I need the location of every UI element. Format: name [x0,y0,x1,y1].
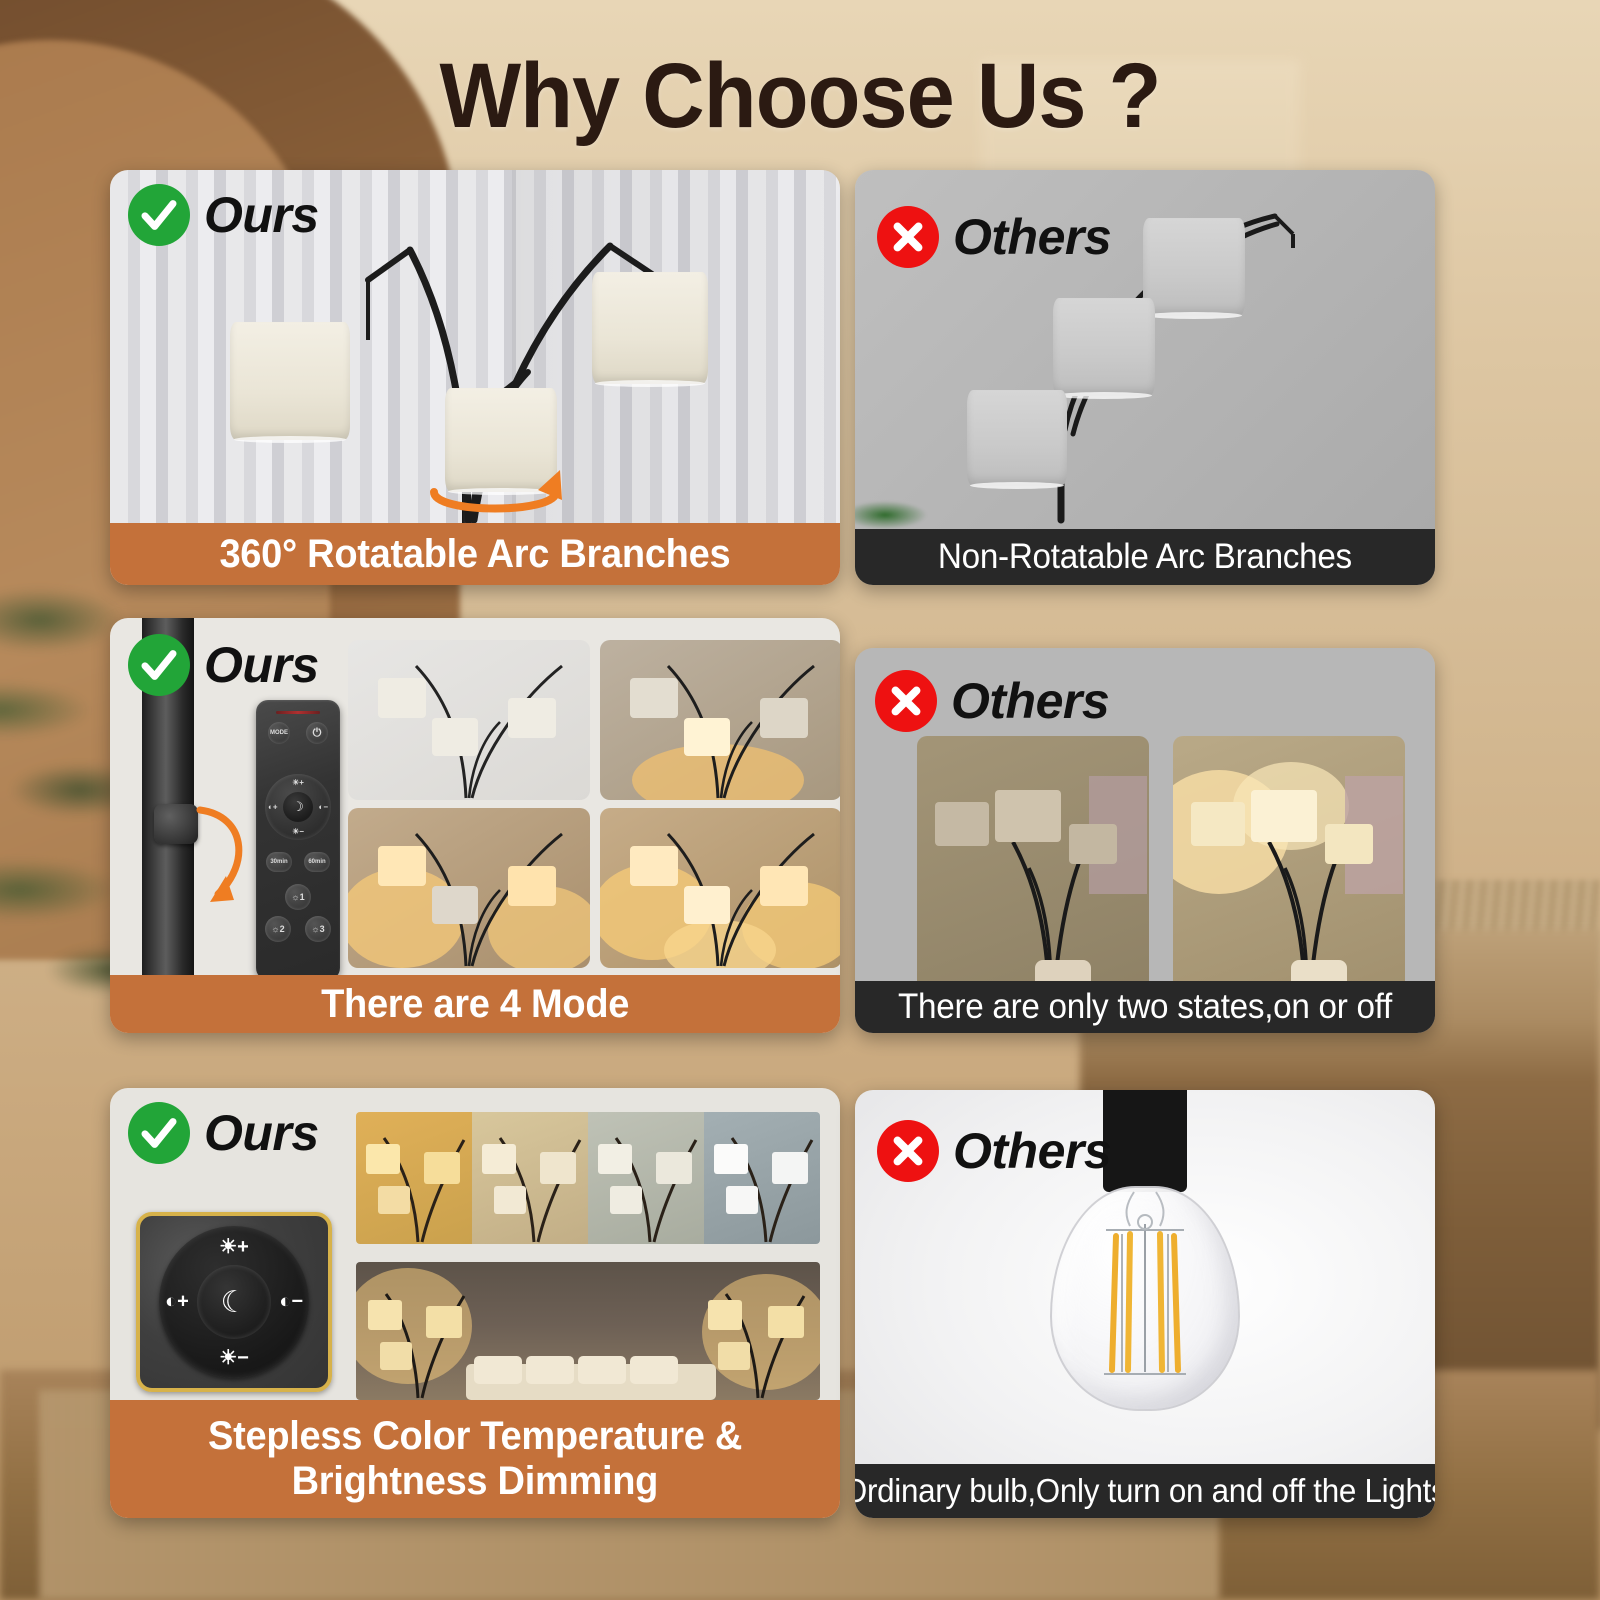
badge-label: Ours [204,1104,319,1162]
lamp-remote-control[interactable]: MODE ⏻ ☀+ ☀− ◐+ ◐− ☽ 30min 60min ☼1 ☼2 ☼… [256,700,340,980]
remote-light-2[interactable]: ☼2 [265,916,291,942]
badge-label: Others [951,672,1109,730]
thumb-mode-3 [348,808,590,968]
color-temp-down-key[interactable]: ◐− [279,1291,303,1314]
caption-bar-ours-dimming: Stepless Color Temperature & Brightness … [110,1400,840,1518]
caption-line: Non-Rotatable Arc Branches [938,537,1352,576]
thumb-mode-2 [600,640,840,800]
badge-label: Ours [204,636,319,694]
caption-line: There are 4 Mode [321,982,629,1027]
rotation-arrow-icon [410,460,580,530]
thumb-state-off [917,736,1149,998]
caption-bar-others-ordinary-bulb: Ordinary bulb,Only turn on and off the L… [855,1464,1435,1518]
card-ours-four-modes: MODE ⏻ ☀+ ☀− ◐+ ◐− ☽ 30min 60min ☼1 ☼2 ☼… [110,618,840,1033]
knob-rotation-arrow-icon [188,798,262,908]
check-icon [128,184,190,246]
remote-temp-down[interactable]: ◐− [318,803,328,812]
remote-power-button[interactable]: ⏻ [306,722,328,744]
color-temp-swatch-2 [472,1112,588,1244]
dimmer-control-pad[interactable]: ☀+ ☀− ◐+ ◐− ☾ [136,1212,332,1392]
badge-ours: Ours [128,184,319,246]
cross-icon [877,1120,939,1182]
color-temp-swatch-3 [588,1112,704,1244]
remote-light-3[interactable]: ☼3 [305,916,331,942]
lamp-shade-right [592,272,708,384]
badge-others: Others [877,1120,1111,1182]
caption-bar-others-two-states: There are only two states,on or off [855,981,1435,1033]
color-temperature-strip [356,1112,820,1244]
caption-line-1: Stepless Color Temperature & [208,1414,742,1459]
brightness-up-key[interactable]: ☀+ [219,1234,249,1259]
bulb-filaments-icon [1050,1186,1240,1416]
card-ours-dimming: ☀+ ☀− ◐+ ◐− ☾ [110,1088,840,1518]
color-temp-swatch-4 [704,1112,820,1244]
caption-line: 360° Rotatable Arc Branches [220,532,731,577]
night-mode-key[interactable]: ☾ [197,1265,271,1339]
wide-room-photo [356,1262,820,1400]
remote-brightness-up[interactable]: ☀+ [292,778,304,787]
badge-others: Others [875,670,1109,732]
remote-brightness-down[interactable]: ☀− [292,827,304,836]
remote-mode-button[interactable]: MODE [268,722,290,744]
thumb-mode-4 [600,808,840,968]
check-icon [128,1102,190,1164]
card-others-ordinary-bulb: Others Ordinary bulb,Only turn on and of… [855,1090,1435,1518]
remote-ir-led [276,711,320,714]
lamp-shade-left [230,322,350,440]
thumb-state-on [1173,736,1405,998]
remote-light-1[interactable]: ☼1 [285,884,311,910]
lamp-shade-middle [1053,298,1155,396]
remote-timer-30min[interactable]: 30min [266,852,292,872]
cross-icon [875,670,937,732]
lamp-shade-top [1143,218,1245,316]
caption-line-2: Brightness Dimming [292,1459,658,1504]
badge-ours: Ours [128,634,319,696]
caption-bar-others-nonrotatable: Non-Rotatable Arc Branches [855,529,1435,585]
badge-label: Others [953,208,1111,266]
check-icon [128,634,190,696]
caption-bar-ours-four-modes: There are 4 Mode [110,975,840,1033]
badge-label: Ours [204,186,319,244]
brightness-down-key[interactable]: ☀− [219,1345,249,1370]
remote-timer-60min[interactable]: 60min [304,852,330,872]
badge-label: Others [953,1122,1111,1180]
color-temp-up-key[interactable]: ◐+ [165,1291,189,1314]
card-others-two-states: Others There are only two states,on or o… [855,648,1435,1033]
bulb-socket [1103,1090,1187,1192]
color-temp-swatch-1 [356,1112,472,1244]
badge-others: Others [877,206,1111,268]
badge-ours: Ours [128,1102,319,1164]
remote-temp-up[interactable]: ◐+ [268,803,278,812]
card-others-nonrotatable: Others Non-Rotatable Arc Branches [855,170,1435,585]
cross-icon [877,206,939,268]
lamp-shade-bottom [967,390,1067,486]
remote-dpad[interactable]: ☀+ ☀− ◐+ ◐− ☽ [265,774,331,840]
page-title: Why Choose Us ? [48,44,1552,149]
caption-line: Ordinary bulb,Only turn on and off the L… [855,1473,1435,1510]
remote-night-mode-button[interactable]: ☽ [283,792,313,822]
caption-bar-ours-rotatable: 360° Rotatable Arc Branches [110,523,840,585]
thumb-mode-1 [348,640,590,800]
dimmer-pad-ring[interactable]: ☀+ ☀− ◐+ ◐− ☾ [159,1226,309,1378]
caption-line: There are only two states,on or off [898,987,1392,1026]
card-ours-rotatable: Ours 360° Rotatable Arc Branches [110,170,840,585]
